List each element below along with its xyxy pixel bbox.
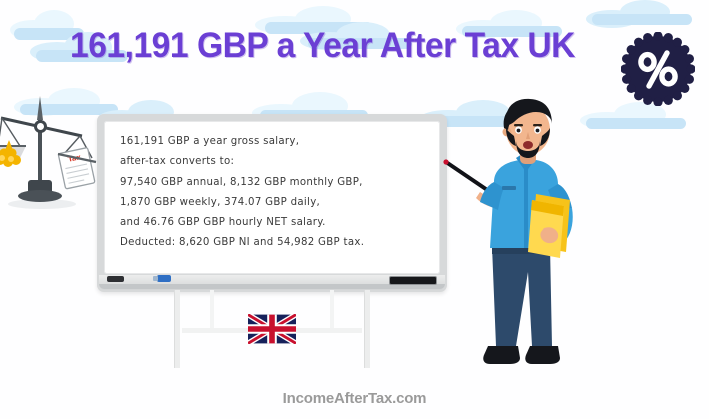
black-marker-icon <box>389 276 437 285</box>
page-title: 161,191 GBP a Year After Tax UK <box>70 26 627 66</box>
stand-leg <box>174 290 180 368</box>
whiteboard-line: 161,191 GBP a year gross salary, <box>120 132 432 152</box>
stand-leg <box>364 290 370 368</box>
balance-scales-icon: Tax <box>0 96 104 216</box>
whiteboard-line: 97,540 GBP annual, 8,132 GBP monthly GBP… <box>120 173 432 193</box>
percent-badge-icon <box>621 32 695 106</box>
presenter-man-illustration <box>440 96 620 386</box>
whiteboard-stand <box>160 290 384 368</box>
whiteboard: 161,191 GBP a year gross salary, after-t… <box>97 114 447 292</box>
poster-canvas: 161,191 GBP a Year After Tax UK <box>0 0 709 419</box>
yellow-folder <box>528 194 570 258</box>
eraser-icon <box>107 276 124 282</box>
whiteboard-text: 161,191 GBP a year gross salary, after-t… <box>120 132 432 254</box>
whiteboard-tray <box>99 275 445 290</box>
stand-leg <box>210 290 214 330</box>
whiteboard-line: and 46.76 GBP GBP hourly NET salary. <box>120 213 432 233</box>
whiteboard-line: after-tax converts to: <box>120 152 432 172</box>
whiteboard-surface: 161,191 GBP a year gross salary, after-t… <box>104 121 440 274</box>
stand-leg <box>330 290 334 330</box>
site-watermark: IncomeAfterTax.com <box>0 390 709 407</box>
blue-marker-icon <box>157 275 171 282</box>
uk-flag-icon <box>248 314 296 344</box>
whiteboard-line: Deducted: 8,620 GBP NI and 54,982 GBP ta… <box>120 233 432 253</box>
whiteboard-line: 1,870 GBP weekly, 374.07 GBP daily, <box>120 193 432 213</box>
